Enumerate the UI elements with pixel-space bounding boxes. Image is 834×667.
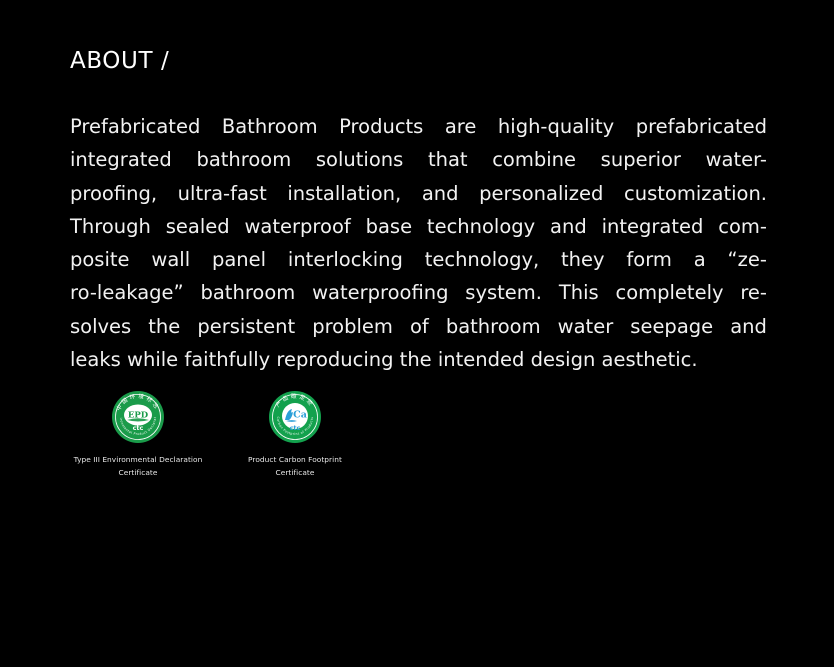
about-line: ro-leakage”bathroomwaterproofingsystem.T… bbox=[70, 276, 767, 309]
about-line: Throughsealedwaterproofbasetechnologyand… bbox=[70, 210, 767, 243]
certificates-row: 中国环境标志 Environmental Product Declaration… bbox=[70, 390, 770, 495]
svg-text:ctc: ctc bbox=[133, 424, 144, 432]
about-line: leaks while faithfully reproducing the i… bbox=[70, 343, 767, 376]
epd-certificate-seal-icon: 中国环境标志 Environmental Product Declaration… bbox=[111, 390, 165, 444]
about-page: ABOUT / PrefabricatedBathroomProductsare… bbox=[0, 0, 834, 667]
page-title: ABOUT / bbox=[70, 48, 169, 76]
about-paragraph: PrefabricatedBathroomProductsarehigh-qua… bbox=[70, 110, 767, 376]
about-line: solvesthepersistentproblemofbathroomwate… bbox=[70, 310, 767, 343]
svg-text:ctc: ctc bbox=[290, 424, 301, 432]
certificate-caption: Product Carbon Footprint Certificate bbox=[227, 454, 363, 479]
certificate-item: 中国环境标志 Environmental Product Declaration… bbox=[70, 390, 206, 479]
carbon-footprint-certificate-seal-icon: 产品碳足迹 Carbon Footprint of Products Ca ct… bbox=[268, 390, 322, 444]
svg-text:Ca: Ca bbox=[293, 410, 307, 421]
about-line: proofing,ultra-fastinstallation,andperso… bbox=[70, 177, 767, 210]
certificate-item: 产品碳足迹 Carbon Footprint of Products Ca ct… bbox=[227, 390, 363, 479]
certificate-caption: Type III Environmental Declaration Certi… bbox=[70, 454, 206, 479]
about-line: integratedbathroomsolutionsthatcombinesu… bbox=[70, 143, 767, 176]
about-line: positewallpanelinterlockingtechnology,th… bbox=[70, 243, 767, 276]
about-line: PrefabricatedBathroomProductsarehigh-qua… bbox=[70, 110, 767, 143]
